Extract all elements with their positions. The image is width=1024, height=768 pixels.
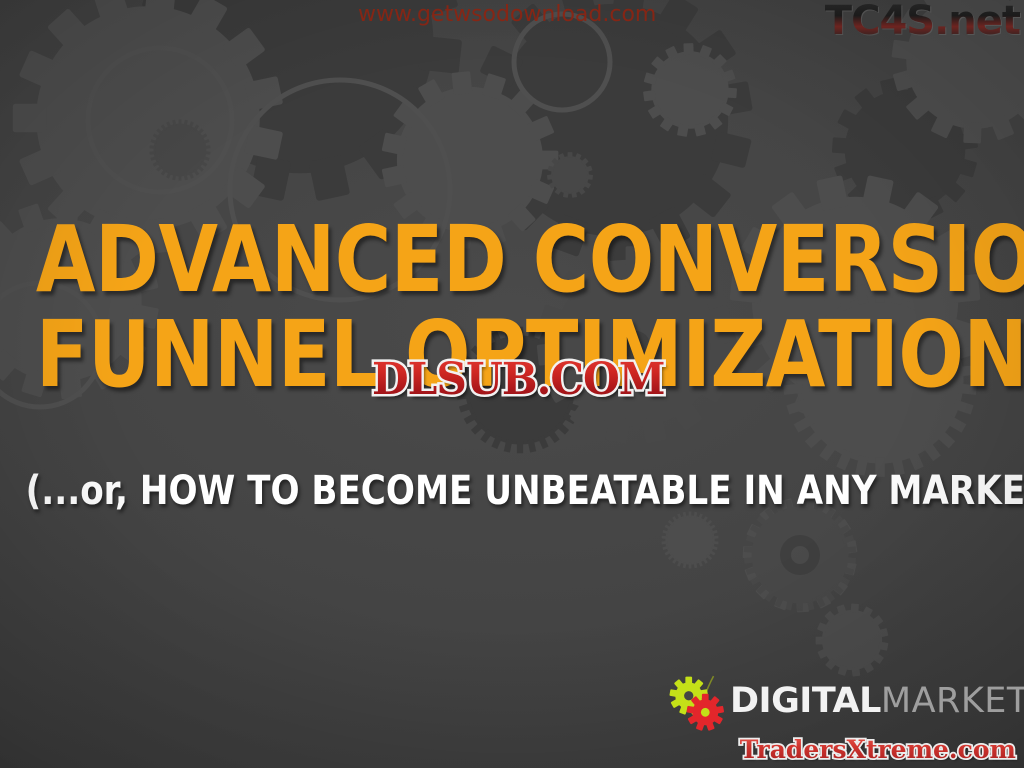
watermark-tradersxtreme-fill: TradersXtreme.com <box>740 735 1016 764</box>
logo-wordmark: DIGITALMARKETER <box>730 684 1024 723</box>
digitalmarketer-logo: DIGITALMARKETER <box>666 672 996 734</box>
watermark-tc4s: TC4S.net <box>825 0 1020 44</box>
logo-word-marketer: MARKETER <box>881 681 1024 721</box>
watermark-tradersxtreme: TradersXtreme.com TradersXtreme.com <box>740 737 1016 762</box>
logo-gear-red <box>686 694 724 731</box>
slide-subtitle: (...or, HOW TO BECOME UNBEATABLE IN ANY … <box>26 471 999 511</box>
logo-gears <box>666 672 728 734</box>
watermark-top-url: www.getwsodownload.com <box>358 2 656 27</box>
slide-title-line-1: ADVANCED CONVERSION <box>36 215 988 304</box>
presentation-slide: www.getwsodownload.com TC4S.net ADVANCED… <box>0 0 1024 768</box>
watermark-dlsub: DLSUB.COM DLSUB.COM <box>372 358 665 402</box>
watermark-dlsub-fill: DLSUB.COM <box>372 354 665 405</box>
logo-word-digital: DIGITAL <box>730 681 881 721</box>
